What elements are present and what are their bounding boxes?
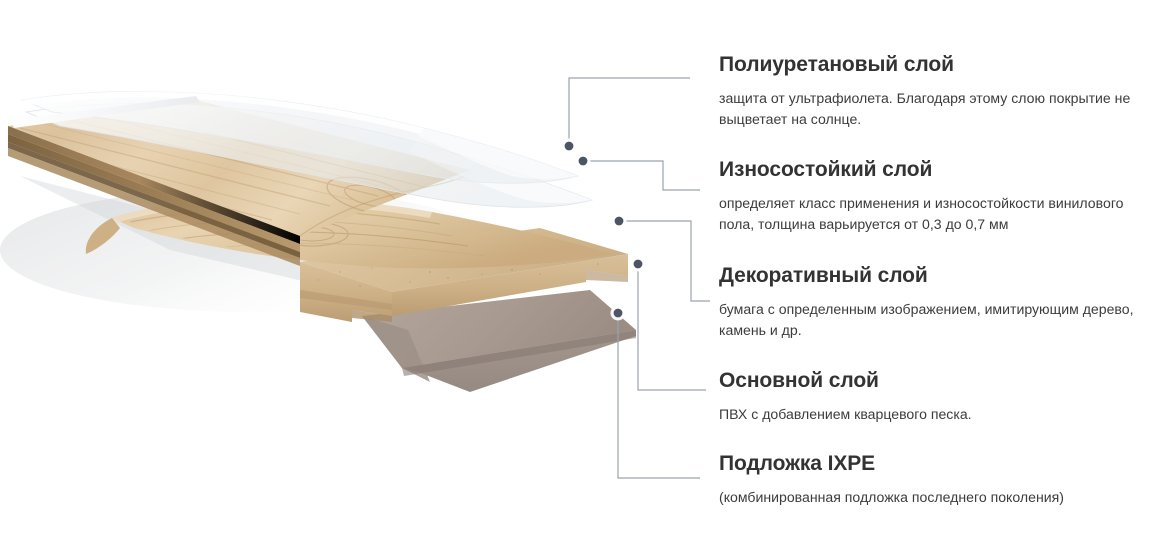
layer-block-decorative: Декоративный слой бумага с определенным … <box>719 264 1151 342</box>
layer-description-decorative: бумага с определенным изображением, имит… <box>719 299 1151 342</box>
layer-block-wear-resistant: Износостойкий слой определяет класс прим… <box>719 158 1151 236</box>
layer-descriptions-column: Полиуретановый слой защита от ультрафиол… <box>719 0 1160 551</box>
layer-description-ixpe: (комбинированная подложка последнего пок… <box>719 487 1151 508</box>
plank-illustration <box>0 0 700 551</box>
layer-title-decorative: Декоративный слой <box>719 264 1151 288</box>
layer-title-polyurethane: Полиуретановый слой <box>719 53 1151 77</box>
layer-title-base: Основной слой <box>719 369 1151 393</box>
layer-description-base: ПВХ с добавлением кварцевого песка. <box>719 404 1151 425</box>
layer-description-wear-resistant: определяет класс применения и износостой… <box>719 193 1151 236</box>
layer-title-ixpe: Подложка IXPE <box>719 452 1151 476</box>
layer-description-polyurethane: защита от ультрафиолета. Благодаря этому… <box>719 88 1151 131</box>
layer-block-ixpe: Подложка IXPE (комбинированная подложка … <box>719 452 1151 508</box>
layer-title-wear-resistant: Износостойкий слой <box>719 158 1151 182</box>
vinyl-floor-layers-infographic: Полиуретановый слой защита от ультрафиол… <box>0 0 1160 551</box>
layer-block-base: Основной слой ПВХ с добавлением кварцево… <box>719 369 1151 425</box>
layer-block-polyurethane: Полиуретановый слой защита от ультрафиол… <box>719 53 1151 131</box>
